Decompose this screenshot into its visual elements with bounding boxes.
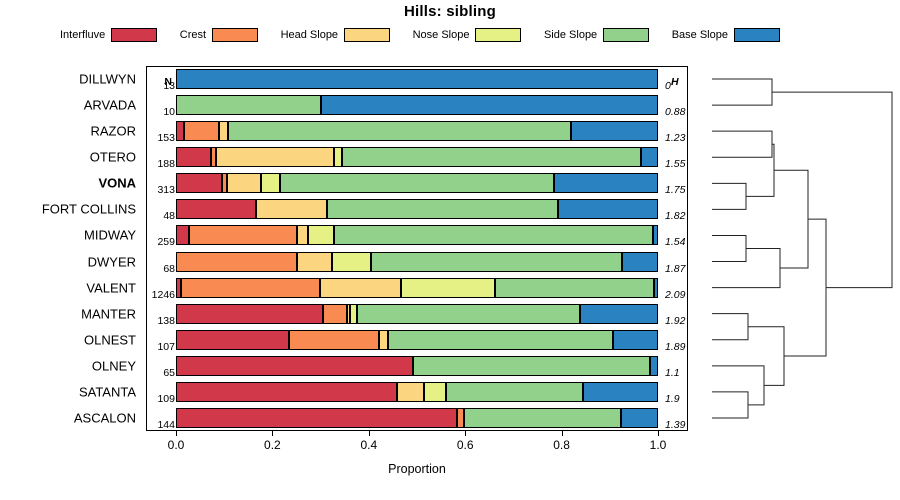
page-title: Hills: sibling	[0, 3, 900, 20]
h-value: 1.23	[665, 132, 685, 144]
n-value: 68	[163, 263, 175, 275]
n-value: 109	[157, 393, 175, 405]
legend-item-label: Side Slope	[544, 29, 597, 41]
dendrogram-link	[784, 219, 826, 356]
bar-segment	[371, 252, 622, 272]
bar-segment	[289, 330, 379, 350]
n-value: 144	[157, 419, 175, 431]
n-value: 10	[163, 106, 175, 118]
bar-row	[176, 356, 658, 376]
bar-row	[176, 199, 658, 219]
bar-segment	[176, 252, 297, 272]
category-label: OLNEST	[84, 332, 136, 347]
legend-item[interactable]: Side Slope	[544, 28, 649, 42]
bar-segment	[334, 147, 342, 167]
n-value: 188	[157, 158, 175, 170]
legend-item[interactable]: Base Slope	[672, 28, 780, 42]
x-tick-label: 0.6	[457, 438, 474, 452]
bar-segment	[256, 199, 326, 219]
bar-segment	[332, 252, 371, 272]
n-value: 107	[157, 341, 175, 353]
bar-segment	[308, 225, 334, 245]
x-axis-title: Proportion	[146, 462, 688, 476]
h-value: 0.88	[665, 106, 685, 118]
legend-swatch	[111, 28, 157, 42]
h-value: 1.1	[665, 367, 680, 379]
bar-segment	[580, 304, 658, 324]
bar-segment	[424, 382, 446, 402]
x-tick	[465, 431, 466, 436]
dendrogram-link	[712, 183, 746, 209]
bar-segment	[379, 330, 388, 350]
dendrogram-link	[712, 131, 772, 157]
bar-segment	[181, 278, 320, 298]
h-value: 1.75	[665, 184, 685, 196]
bar-segment	[641, 147, 658, 167]
bar-segment	[216, 147, 334, 167]
legend-item[interactable]: Nose Slope	[413, 28, 522, 42]
category-label: VONA	[98, 176, 136, 191]
category-label: MANTER	[81, 306, 136, 321]
n-column: N 13101531883134825968124613810765109144	[147, 66, 177, 431]
bar-segment	[357, 304, 580, 324]
bar-segment	[327, 199, 558, 219]
x-tick-label: 1.0	[650, 438, 667, 452]
category-label: SATANTA	[79, 384, 136, 399]
bar-segment	[176, 304, 323, 324]
bar-segment	[280, 173, 554, 193]
bar-segment	[176, 95, 321, 115]
x-tick-label: 0.0	[168, 438, 185, 452]
x-tick-label: 0.4	[360, 438, 377, 452]
bar-segment	[653, 225, 658, 245]
bar-segment	[176, 408, 457, 428]
bar-segment	[554, 173, 658, 193]
bar-segment	[261, 173, 280, 193]
bar-segment	[297, 252, 333, 272]
category-label: DILLWYN	[79, 72, 136, 87]
x-tick	[176, 431, 177, 436]
legend-item-label: Interfluve	[60, 29, 105, 41]
category-axis-labels: DILLWYNARVADARAZOROTEROVONAFORT COLLINSM…	[0, 66, 142, 431]
x-tick	[369, 431, 370, 436]
h-value: 1.39	[665, 419, 685, 431]
n-value: 153	[157, 132, 175, 144]
bar-segment	[227, 173, 261, 193]
bar-row	[176, 225, 658, 245]
legend-item-label: Crest	[180, 29, 206, 41]
bar-segment	[176, 330, 289, 350]
legend-item[interactable]: Head Slope	[281, 28, 391, 42]
bar-segment	[401, 278, 495, 298]
category-label: OLNEY	[92, 358, 136, 373]
bar-segment	[457, 408, 464, 428]
h-value: 1.55	[665, 158, 685, 170]
n-value: 259	[157, 236, 175, 248]
x-axis: 0.00.20.40.60.81.0	[176, 431, 658, 457]
h-value: 1.54	[665, 236, 685, 248]
bar-segment	[446, 382, 583, 402]
dendrogram-link	[746, 144, 774, 196]
bar-segment	[571, 121, 658, 141]
n-value: 1246	[152, 289, 175, 301]
bar-row	[176, 121, 658, 141]
bar-segment	[388, 330, 613, 350]
bar-row	[176, 147, 658, 167]
dendrogram-link	[712, 366, 764, 405]
bar-segment	[583, 382, 658, 402]
h-value: 1.92	[665, 315, 685, 327]
h-value: 2.09	[665, 289, 685, 301]
category-label: DWYER	[88, 254, 136, 269]
dendrogram	[704, 66, 896, 431]
bar-segment	[495, 278, 654, 298]
bar-segment	[650, 356, 658, 376]
h-column: H 00.881.231.551.751.821.541.872.091.921…	[659, 66, 703, 431]
dendrogram-link	[712, 392, 748, 418]
x-tick	[562, 431, 563, 436]
bar-row	[176, 252, 658, 272]
x-tick	[272, 431, 273, 436]
bar-segment	[342, 147, 641, 167]
n-value: 13	[163, 80, 175, 92]
dendrogram-link	[772, 92, 892, 288]
x-tick-label: 0.2	[264, 438, 281, 452]
legend-item[interactable]: Interfluve	[60, 28, 157, 42]
x-tick	[658, 431, 659, 436]
bar-segment	[621, 408, 658, 428]
bar-segment	[184, 121, 219, 141]
bar-segment	[334, 225, 653, 245]
bar-segment	[176, 147, 211, 167]
bar-segment	[176, 382, 397, 402]
bar-segment	[176, 173, 222, 193]
bar-segment	[228, 121, 572, 141]
bar-row	[176, 382, 658, 402]
legend-item-label: Nose Slope	[413, 29, 470, 41]
dendrogram-link	[712, 235, 746, 261]
bar-segment	[176, 121, 184, 141]
h-value: 1.82	[665, 210, 685, 222]
bar-segment	[176, 356, 413, 376]
legend: InterfluveCrestHead SlopeNose SlopeSide …	[60, 26, 780, 44]
legend-swatch	[603, 28, 649, 42]
bar-segment	[323, 304, 348, 324]
bar-segment	[176, 69, 658, 89]
dendrogram-link	[774, 170, 808, 268]
bar-segment	[350, 304, 357, 324]
bar-row	[176, 95, 658, 115]
legend-item-label: Base Slope	[672, 29, 728, 41]
category-label: FORT COLLINS	[42, 202, 136, 217]
dendrogram-link	[748, 327, 784, 386]
dendrogram-link	[712, 314, 748, 340]
bar-segment	[176, 225, 189, 245]
h-value: 0	[665, 80, 671, 92]
dendrogram-svg	[704, 66, 896, 431]
h-value: 1.9	[665, 393, 680, 405]
bar-segment	[622, 252, 658, 272]
bar-segment	[176, 199, 256, 219]
legend-item[interactable]: Crest	[180, 28, 258, 42]
bar-row	[176, 330, 658, 350]
legend-swatch	[475, 28, 521, 42]
bar-segment	[219, 121, 227, 141]
h-column-header: H	[671, 76, 679, 88]
legend-swatch	[344, 28, 390, 42]
bar-row	[176, 304, 658, 324]
n-value: 48	[163, 210, 175, 222]
bar-segment	[189, 225, 297, 245]
category-label: VALENT	[86, 280, 136, 295]
bar-row	[176, 278, 658, 298]
bar-segment	[613, 330, 658, 350]
legend-item-label: Head Slope	[281, 29, 339, 41]
bar-segment	[321, 95, 658, 115]
n-value: 313	[157, 184, 175, 196]
n-value: 65	[163, 367, 175, 379]
bar-segment	[464, 408, 621, 428]
category-label: ARVADA	[84, 98, 136, 113]
bar-segment	[413, 356, 650, 376]
category-label: MIDWAY	[84, 228, 136, 243]
bar-segment	[558, 199, 658, 219]
category-label: ASCALON	[74, 410, 136, 425]
h-value: 1.87	[665, 263, 685, 275]
category-label: RAZOR	[91, 124, 137, 139]
bar-segment	[320, 278, 400, 298]
legend-swatch	[734, 28, 780, 42]
h-value: 1.89	[665, 341, 685, 353]
bar-segment	[297, 225, 308, 245]
stacked-bars	[176, 66, 658, 431]
bar-row	[176, 408, 658, 428]
category-label: OTERO	[90, 150, 136, 165]
bar-row	[176, 173, 658, 193]
bar-segment	[654, 278, 658, 298]
n-value: 138	[157, 315, 175, 327]
bar-row	[176, 69, 658, 89]
x-tick-label: 0.8	[553, 438, 570, 452]
legend-swatch	[212, 28, 258, 42]
dendrogram-link	[712, 79, 772, 105]
bar-segment	[397, 382, 424, 402]
